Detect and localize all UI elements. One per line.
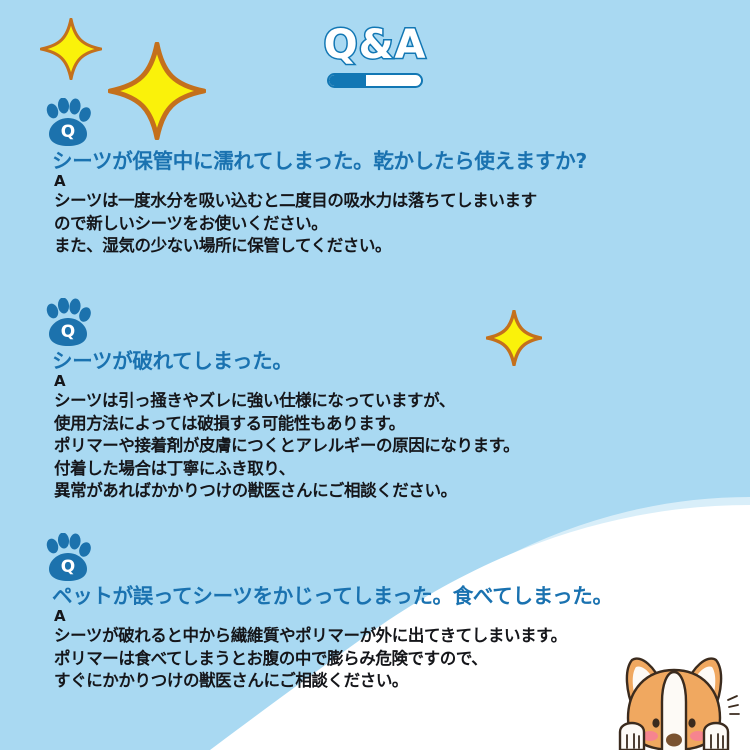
answer-line: 使用方法によっては破損する可能性もあります。 — [54, 413, 714, 436]
answer-line: ので新しいシーツをお使いください。 — [54, 213, 714, 236]
paw-marker-letter: Q — [57, 557, 79, 579]
answer-line: シーツが破れると中から繊維質やポリマーが外に出てきてしまいます。 — [54, 625, 714, 648]
answer-line: 付着した場合は丁寧にふき取り、 — [54, 458, 714, 481]
answer-label: A — [54, 372, 714, 390]
answer-group: A シーツは一度水分を吸い込むと二度目の吸水力は落ちてしまいます ので新しいシー… — [54, 172, 714, 258]
answer-group: A シーツが破れると中から繊維質やポリマーが外に出てきてしまいます。 ポリマーは… — [54, 607, 714, 693]
answer-label: A — [54, 607, 714, 625]
answer-line: シーツは引っ掻きやズレに強い仕様になっていますが、 — [54, 390, 714, 413]
question-text: シーツが破れてしまった。 — [52, 344, 293, 374]
page-title: Q&A — [324, 24, 427, 66]
answer-line: また、湿気の少ない場所に保管してください。 — [54, 235, 714, 258]
answer-label: A — [54, 172, 714, 190]
answer-line: 異常があればかかりつけの獣医さんにご相談ください。 — [54, 480, 714, 503]
question-text: ペットが誤ってシーツをかじってしまった。食べてしまった。 — [52, 579, 613, 609]
sparkle-mid-right — [486, 310, 542, 366]
qa-infographic-page: Q&A Q シーツが保管中に濡れてしまった。乾かしたら使えますか? A シーツは… — [0, 0, 750, 750]
answer-group: A シーツは引っ掻きやズレに強い仕様になっていますが、 使用方法によっては破損す… — [54, 372, 714, 503]
answer-line: ポリマーは食べてしまうとお腹の中で膨らみ危険ですので、 — [54, 648, 714, 671]
answer-line: ポリマーや接着剤が皮膚につくとアレルギーの原因になります。 — [54, 435, 714, 458]
header: Q&A — [0, 24, 750, 88]
answer-line: シーツは一度水分を吸い込むと二度目の吸水力は落ちてしまいます — [54, 190, 714, 213]
title-underline-bar-fill — [329, 75, 366, 86]
answer-line: すぐにかかりつけの獣医さんにご相談ください。 — [54, 670, 714, 693]
question-text: シーツが保管中に濡れてしまった。乾かしたら使えますか? — [52, 144, 587, 174]
title-underline-bar — [327, 73, 423, 88]
paw-marker-letter: Q — [57, 322, 79, 344]
paw-marker-letter: Q — [57, 122, 79, 144]
